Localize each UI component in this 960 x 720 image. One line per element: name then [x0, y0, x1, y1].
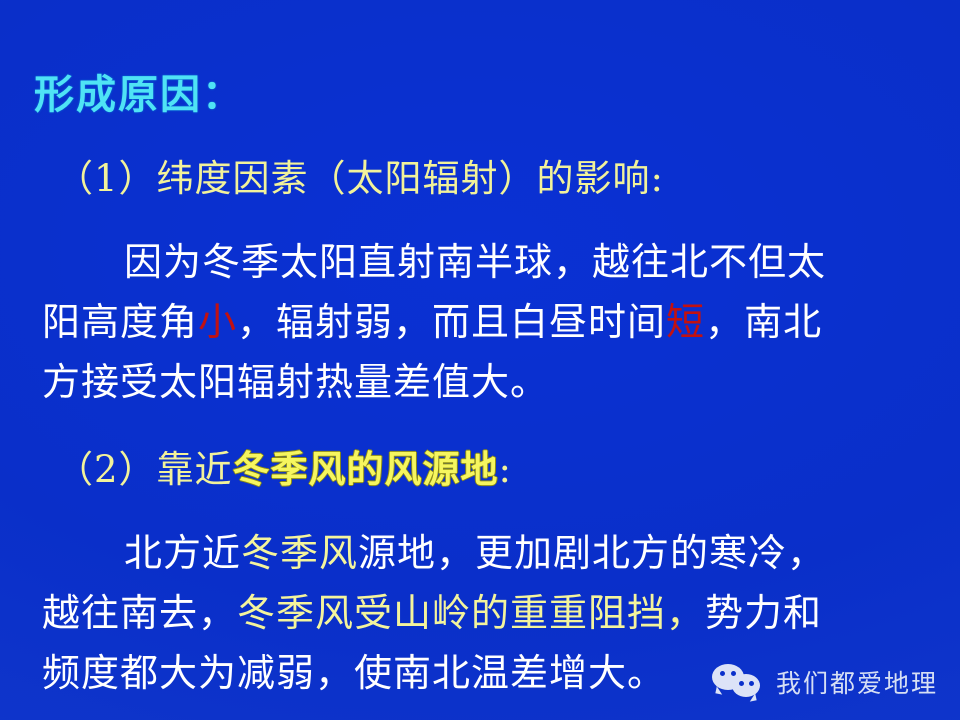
wechat-icon	[712, 662, 766, 702]
section-1-line-2: 阳高度角小，辐射弱，而且白昼时间短，南北	[0, 292, 960, 352]
text-run: 因为冬季太阳直射南半球，越往北不但太	[124, 240, 826, 284]
wechat-eye	[739, 681, 744, 686]
text-run: （2）靠近	[56, 448, 233, 491]
text-run: 冬季风	[241, 531, 358, 575]
section-1-heading: （1）纬度因素（太阳辐射）的影响:	[0, 148, 960, 210]
section-2-line-2: 越往南去，冬季风受山岭的重重阻挡，势力和	[0, 583, 960, 643]
slide-canvas: 形成原因： （1）纬度因素（太阳辐射）的影响: 因为冬季太阳直射南半球，越往北不…	[0, 0, 960, 720]
text-run: 小	[198, 300, 237, 344]
wechat-eye	[749, 681, 754, 686]
spacer	[0, 210, 960, 232]
watermark: 我们都爱地理	[712, 662, 938, 702]
text-run: 频度都大为减弱，使南北温差增大。	[42, 651, 666, 695]
text-run: 势力和	[705, 591, 822, 635]
text-run: 阳高度角	[42, 300, 198, 344]
text-run: 冬季风的风源地	[233, 447, 499, 491]
wechat-eye	[720, 671, 725, 676]
text-run: 源地，更加剧北方的寒冷，	[358, 531, 826, 575]
section-2-heading: （2）靠近冬季风的风源地:	[0, 438, 960, 501]
text-run: 方接受太阳辐射热量差值大。	[42, 360, 549, 404]
text-run: ，南北	[705, 300, 822, 344]
text-run: ，辐射弱，而且白昼时间	[237, 300, 666, 344]
section-1-line-1: 因为冬季太阳直射南半球，越往北不但太	[0, 232, 960, 292]
section-1-line-3: 方接受太阳辐射热量差值大。	[0, 352, 960, 412]
wechat-eye	[731, 671, 736, 676]
slide-body: （1）纬度因素（太阳辐射）的影响: 因为冬季太阳直射南半球，越往北不但太 阳高度…	[0, 148, 960, 703]
text-run: 北方近	[124, 531, 241, 575]
section-2-line-1: 北方近冬季风源地，更加剧北方的寒冷，	[0, 523, 960, 583]
text-run: 越往南去，	[42, 591, 237, 635]
text-run: :	[499, 448, 512, 491]
wechat-bubble-small	[732, 674, 760, 697]
text-run: 冬季风受山岭的重重阻挡，	[237, 591, 705, 635]
spacer	[0, 412, 960, 438]
watermark-label: 我们都爱地理	[776, 664, 938, 700]
page-title: 形成原因：	[34, 62, 244, 120]
text-run: 短	[666, 300, 705, 344]
spacer	[0, 501, 960, 523]
